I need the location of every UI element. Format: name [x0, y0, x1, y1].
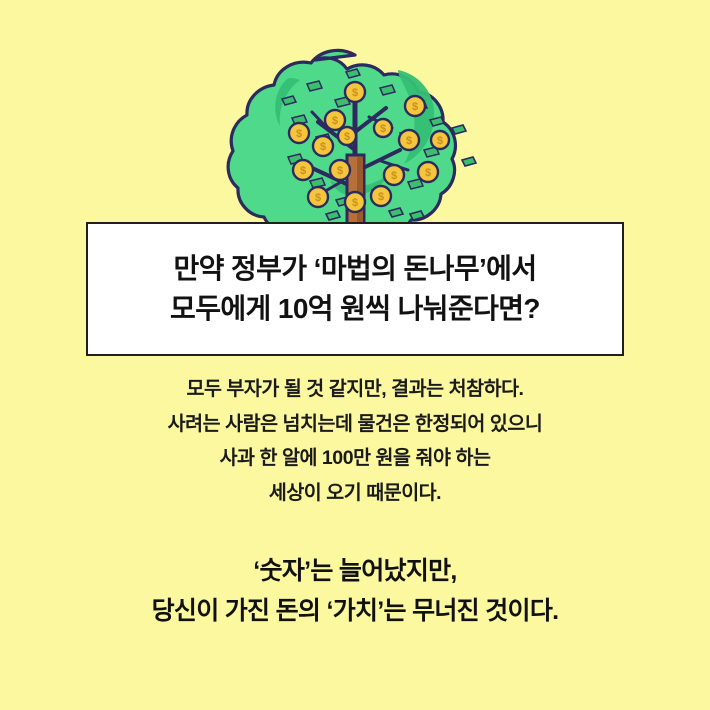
infographic-card: $ $ $ $ $ $ $ $ $ $ $ $ $ $ $ $: [0, 0, 710, 710]
svg-text:$: $: [337, 165, 343, 177]
svg-text:$: $: [300, 165, 306, 177]
conclusion-line-1: ‘숫자’는 늘어났지만,: [0, 552, 710, 592]
conclusion-line-2: 당신이 가진 돈의 ‘가치’는 무너진 것이다.: [0, 592, 710, 632]
body-line-1: 모두 부자가 될 것 같지만, 결과는 처참하다.: [0, 372, 710, 407]
headline-line-2: 모두에게 10억 원씩 나눠준다면?: [170, 289, 540, 329]
svg-text:$: $: [406, 135, 412, 147]
svg-text:$: $: [437, 135, 443, 147]
svg-text:$: $: [352, 197, 358, 209]
headline-box: 만약 정부가 ‘마법의 돈나무’에서 모두에게 10억 원씩 나눠준다면?: [86, 222, 624, 356]
svg-text:$: $: [352, 87, 358, 99]
money-tree-illustration: $ $ $ $ $ $ $ $ $ $ $ $ $ $ $ $: [0, 0, 710, 235]
svg-text:$: $: [378, 191, 384, 203]
conclusion-paragraph: ‘숫자’는 늘어났지만, 당신이 가진 돈의 ‘가치’는 무너진 것이다.: [0, 552, 710, 631]
svg-text:$: $: [344, 131, 350, 143]
svg-text:$: $: [425, 167, 431, 179]
svg-text:$: $: [391, 170, 397, 182]
svg-text:$: $: [412, 101, 418, 113]
svg-text:$: $: [315, 192, 321, 204]
body-line-3: 사과 한 알에 100만 원을 줘야 하는: [0, 441, 710, 476]
body-line-2: 사려는 사람은 넘치는데 물건은 한정되어 있으니: [0, 407, 710, 442]
svg-text:$: $: [296, 128, 302, 140]
svg-text:$: $: [332, 115, 338, 127]
svg-text:$: $: [320, 141, 326, 153]
headline-line-1: 만약 정부가 ‘마법의 돈나무’에서: [174, 249, 537, 289]
svg-text:$: $: [380, 123, 386, 135]
body-line-4: 세상이 오기 때문이다.: [0, 476, 710, 511]
body-paragraph: 모두 부자가 될 것 같지만, 결과는 처참하다. 사려는 사람은 넘치는데 물…: [0, 372, 710, 511]
